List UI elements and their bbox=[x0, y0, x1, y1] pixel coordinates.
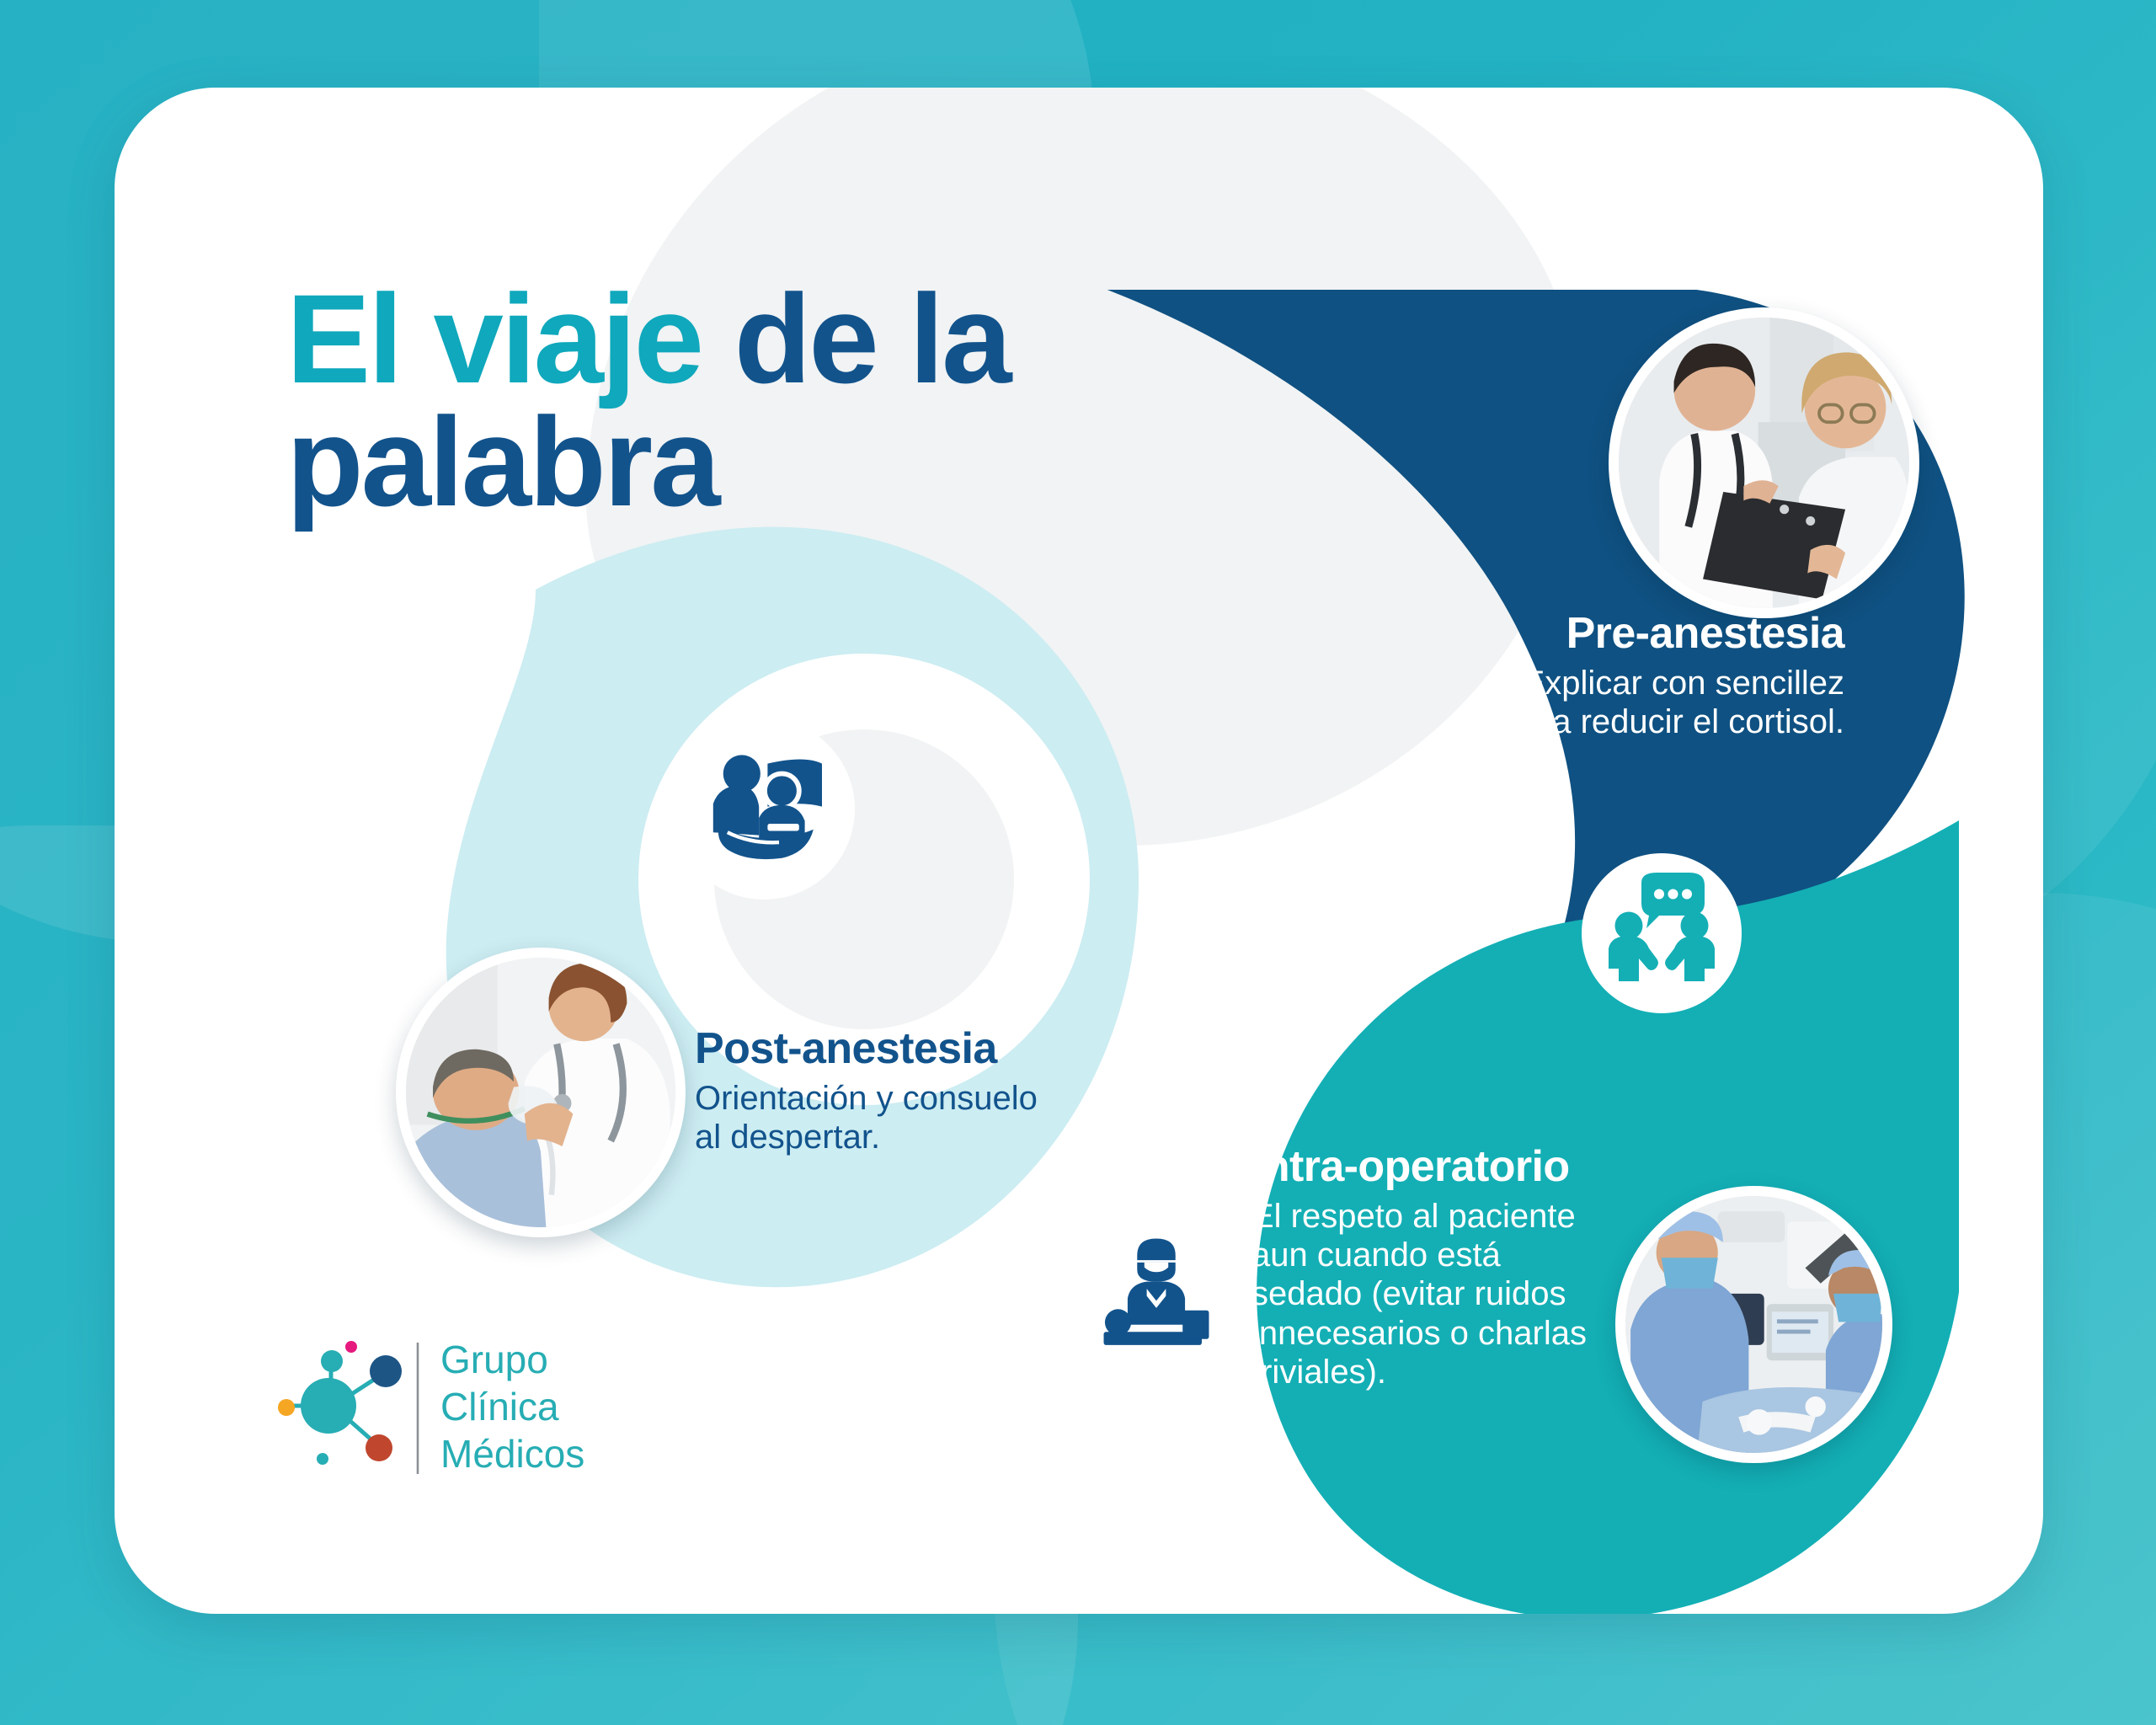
brand-logo[interactable]: Grupo Clínica Médicos bbox=[268, 1324, 655, 1493]
surgery-operating-icon bbox=[1097, 1231, 1216, 1351]
infographic-canvas: El viaje de la palabra bbox=[0, 0, 2156, 1725]
icon-circle-post-anestesia bbox=[674, 718, 855, 900]
page-title-accent: El viaje bbox=[286, 268, 702, 409]
photo-post-anestesia bbox=[396, 948, 686, 1237]
icon-circle-pre-anestesia bbox=[1582, 853, 1742, 1013]
molecule-logo-icon bbox=[278, 1341, 402, 1465]
page-title: El viaje de la palabra bbox=[286, 278, 1432, 523]
icon-circle-intra-operatorio bbox=[1081, 1215, 1232, 1367]
surgical-team-operating-photo bbox=[1625, 1196, 1882, 1453]
stage-body-pre-anestesia: Explicar con sencillez para reducir el c… bbox=[1449, 664, 1844, 742]
consultation-dialogue-icon bbox=[1598, 870, 1725, 996]
patient-bedside-care-icon bbox=[693, 738, 836, 881]
stage-body-intra-operatorio: El respeto al paciente aun cuando está s… bbox=[1251, 1197, 1605, 1392]
photo-intra-operatorio bbox=[1615, 1186, 1892, 1463]
stage-text-intra-operatorio: Intra-operatorio El respeto al paciente … bbox=[1251, 1144, 1605, 1392]
stage-heading-pre-anestesia: Pre-anestesia bbox=[1449, 611, 1844, 657]
stage-body-post-anestesia: Orientación y consuelo al despertar. bbox=[695, 1079, 1049, 1157]
logo-line-3: Médicos bbox=[440, 1432, 584, 1476]
stage-heading-intra-operatorio: Intra-operatorio bbox=[1251, 1144, 1605, 1190]
doctor-consulting-patient-photo bbox=[1619, 318, 1909, 608]
logo-line-2: Clínica bbox=[440, 1385, 559, 1429]
nurse-oxygen-mask-patient-photo bbox=[406, 958, 675, 1227]
stage-heading-post-anestesia: Post-anestesia bbox=[695, 1026, 1049, 1072]
photo-pre-anestesia bbox=[1609, 307, 1919, 618]
stage-text-post-anestesia: Post-anestesia Orientación y consuelo al… bbox=[695, 1026, 1049, 1156]
stage-text-pre-anestesia: Pre-anestesia Explicar con sencillez par… bbox=[1449, 611, 1844, 741]
logo-line-1: Grupo bbox=[440, 1338, 548, 1381]
